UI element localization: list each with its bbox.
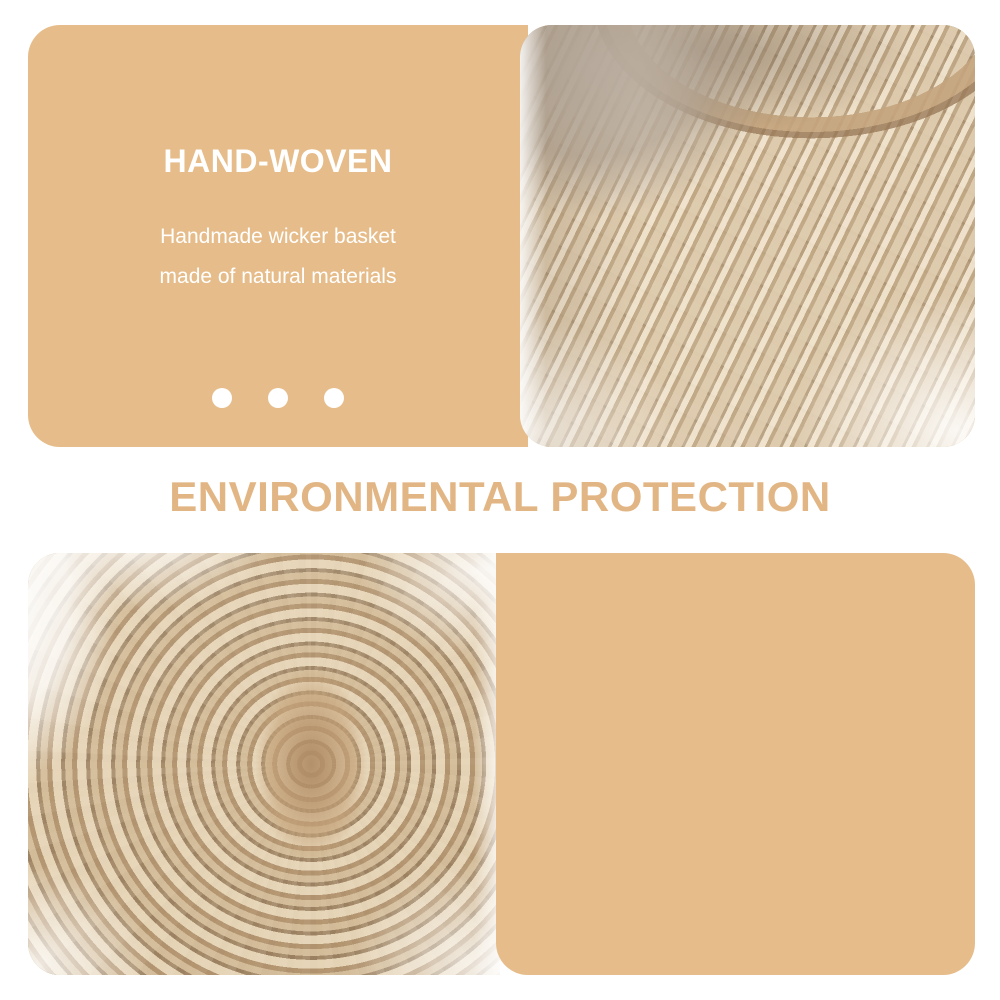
hand-woven-title: HAND-WOVEN <box>28 143 528 180</box>
dot-icon <box>212 388 232 408</box>
wear-resisting-text-panel: WEAR-RESISTING Each selected wicker is c… <box>496 553 975 975</box>
banner: ENVIRONMENTAL PROTECTION <box>0 466 1000 528</box>
hand-woven-text-panel: HAND-WOVEN Handmade wicker basket made o… <box>28 25 528 447</box>
wicker-base-photo-image <box>28 553 500 975</box>
photo-edge-fade <box>520 25 546 447</box>
feature-card-wear-resisting: WEAR-RESISTING Each selected wicker is c… <box>0 540 1000 980</box>
feature-card-hand-woven: HAND-WOVEN Handmade wicker basket made o… <box>0 0 1000 460</box>
wear-resisting-photo <box>28 553 500 975</box>
hand-woven-description-line-2: made of natural materials <box>28 257 528 297</box>
infographic-page: HAND-WOVEN Handmade wicker basket made o… <box>0 0 1000 1000</box>
banner-heading: ENVIRONMENTAL PROTECTION <box>169 473 830 521</box>
hand-woven-description: Handmade wicker basket made of natural m… <box>28 217 528 297</box>
dot-icon <box>324 388 344 408</box>
hand-woven-dot-indicators <box>28 388 528 408</box>
hand-woven-photo <box>520 25 975 447</box>
dot-icon <box>268 388 288 408</box>
hand-woven-description-line-1: Handmade wicker basket <box>28 217 528 257</box>
wicker-rim-photo-image <box>520 25 975 447</box>
